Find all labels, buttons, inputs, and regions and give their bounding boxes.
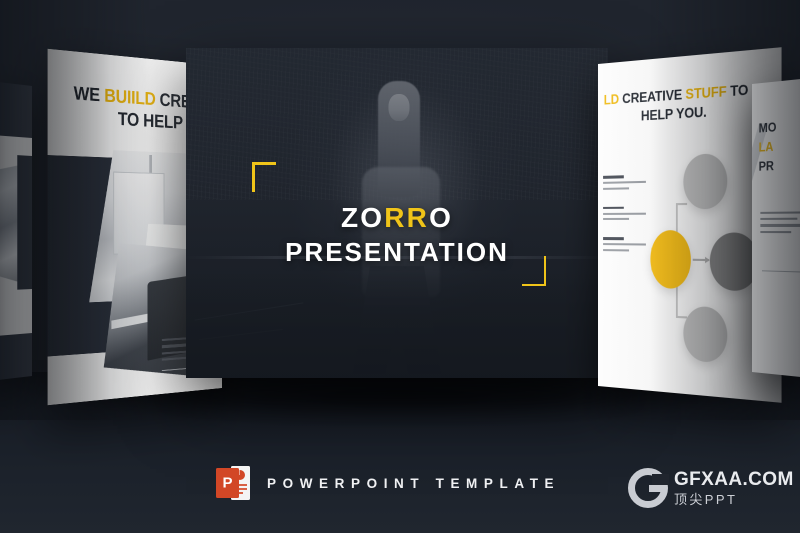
slide-far-right-copy <box>760 211 800 237</box>
title-rr-accent: RR <box>384 202 429 233</box>
slide-far-right-headline: MO LA PR <box>759 118 777 176</box>
gfxaa-watermark: GFXAA.COM 顶尖PPT <box>628 468 794 508</box>
powerpoint-icon: P <box>216 466 250 500</box>
connector-bottom-arm <box>676 316 687 318</box>
divider-rule <box>762 270 800 272</box>
slide-far-right[interactable]: MO LA PR <box>752 75 800 380</box>
connector-bottom <box>676 287 677 318</box>
hero-title-block: ZORRO PRESENTATION <box>186 202 608 268</box>
footer-caption: POWERPOINT TEMPLATE <box>267 476 560 491</box>
diagram-node-center[interactable] <box>650 230 690 289</box>
watermark-domain: GFXAA.COM <box>674 470 794 489</box>
watermark-subtitle: 顶尖PPT <box>674 493 794 506</box>
footer-brand-lockup: P POWERPOINT TEMPLATE <box>216 466 560 500</box>
hero-title-line1: ZORRO <box>186 202 608 234</box>
slide-right-headline: LD CREATIVE STUFF TO HELP YOU. <box>598 80 759 127</box>
slide-far-left[interactable] <box>0 80 32 381</box>
headline-accent: STUFF <box>686 83 727 102</box>
title-o: O <box>429 202 453 233</box>
connector-top-arm <box>676 203 687 205</box>
connector-arrow-icon <box>693 259 709 261</box>
title-zo: ZO <box>341 202 384 233</box>
headline-line3: PR <box>759 158 774 174</box>
hero-title-line2: PRESENTATION <box>186 238 608 268</box>
diagram-node-bottom[interactable] <box>683 306 727 364</box>
gfxaa-g-logo-icon <box>628 468 668 508</box>
floor-reflection-shadow <box>165 378 635 412</box>
powerpoint-icon-letter: P <box>216 476 239 491</box>
presentation-mockup-stage: WE BUIILD CREATIVE TO HELP YOU <box>0 0 800 533</box>
headline-mid: CREATIVE <box>619 86 685 106</box>
slide-band-bottom <box>0 333 32 382</box>
headline-line2: HELP YOU. <box>641 103 707 123</box>
slide-right-bullets <box>603 175 648 269</box>
headline-ld: LD <box>604 91 619 107</box>
headline-post: TO <box>727 82 749 100</box>
diagram-node-top[interactable] <box>683 153 727 209</box>
powerpoint-icon-square: P <box>216 468 239 498</box>
hero-title-slide[interactable]: ZORRO PRESENTATION <box>186 48 608 378</box>
headline-accent: LA <box>759 139 774 155</box>
headline-accent: BUIILD <box>104 85 155 109</box>
slide-dark-block <box>17 155 32 290</box>
slide-band-top <box>0 80 32 138</box>
headline-pre: WE <box>74 83 105 106</box>
headline-line1: MO <box>759 119 777 135</box>
connector-top <box>676 203 677 234</box>
